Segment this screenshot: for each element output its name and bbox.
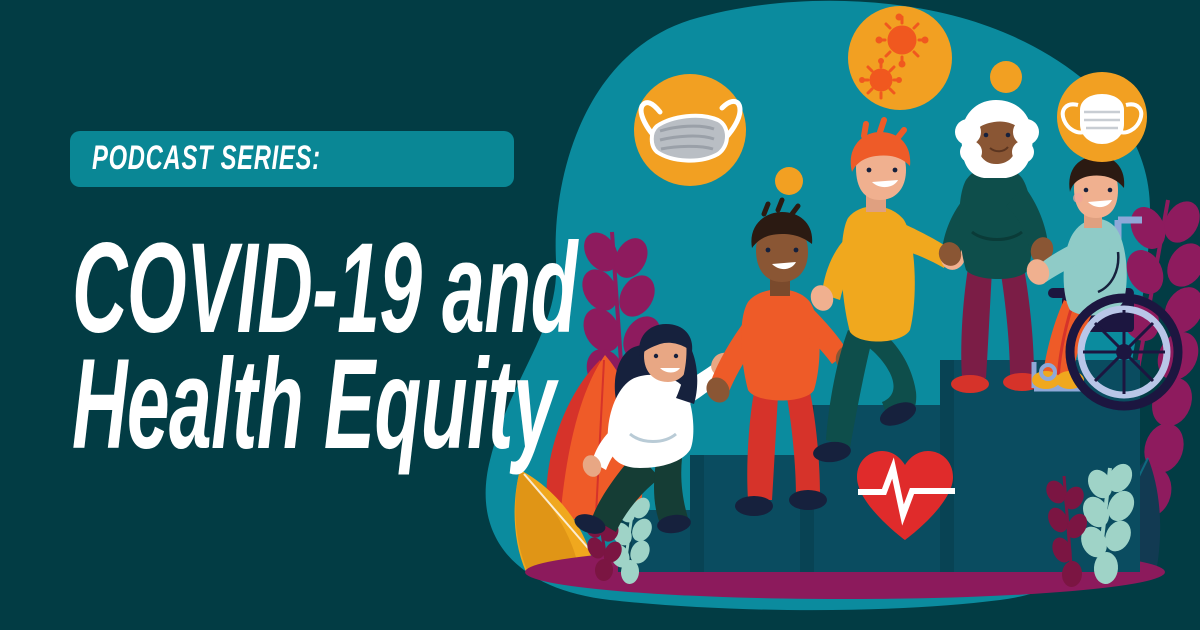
orange-dot-small-left — [775, 167, 803, 195]
virus-badge-circle — [848, 6, 952, 110]
page-title: COVID-19 and Health Equity — [72, 238, 542, 471]
virus-badge — [848, 6, 952, 110]
title-line-2: Health Equity — [72, 354, 552, 456]
podcast-series-label: PODCAST SERIES: — [92, 141, 372, 175]
mask-side-badge — [634, 74, 746, 186]
title-line-1: COVID-19 and — [72, 238, 552, 340]
poster-canvas: PODCAST SERIES: COVID-19 and Health Equi… — [0, 0, 1200, 630]
text-panel: PODCAST SERIES: COVID-19 and Health Equi… — [0, 0, 520, 630]
step-2-side — [690, 455, 704, 572]
orange-dot-small-right — [990, 61, 1022, 93]
mask-front-badge — [1057, 72, 1147, 162]
wheelchair-wheel — [1070, 298, 1178, 406]
podcast-series-badge: PODCAST SERIES: — [70, 131, 514, 187]
